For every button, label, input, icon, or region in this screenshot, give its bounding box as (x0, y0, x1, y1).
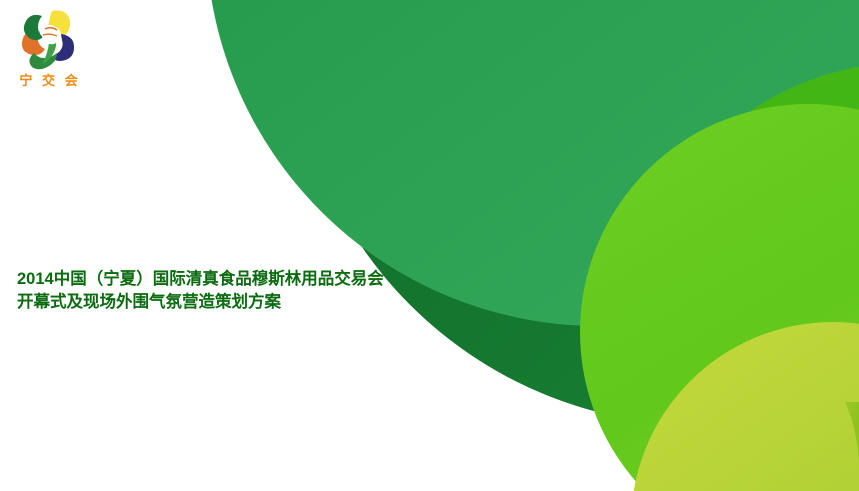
dark-green-circle (290, 0, 859, 425)
olive-green-sliver (845, 402, 859, 491)
ningxia-expo-flower-logo-icon (12, 6, 84, 72)
title-slide: 宁 交 会 2014中国（宁夏）国际清真食品穆斯林用品交易会 开幕式及现场外围气… (0, 0, 859, 491)
title-line-1: 2014中国（宁夏）国际清真食品穆斯林用品交易会 (17, 268, 487, 291)
title-line-2: 开幕式及现场外围气氛营造策划方案 (17, 291, 487, 314)
yellow-green-circle (631, 322, 859, 491)
logo-block: 宁 交 会 (8, 6, 104, 98)
background-decoration (0, 0, 859, 491)
lime-green-circle (580, 104, 859, 491)
page-title: 2014中国（宁夏）国际清真食品穆斯林用品交易会 开幕式及现场外围气氛营造策划方… (17, 268, 487, 314)
logo-caption: 宁 交 会 (12, 72, 88, 90)
bright-green-circle (633, 63, 859, 491)
